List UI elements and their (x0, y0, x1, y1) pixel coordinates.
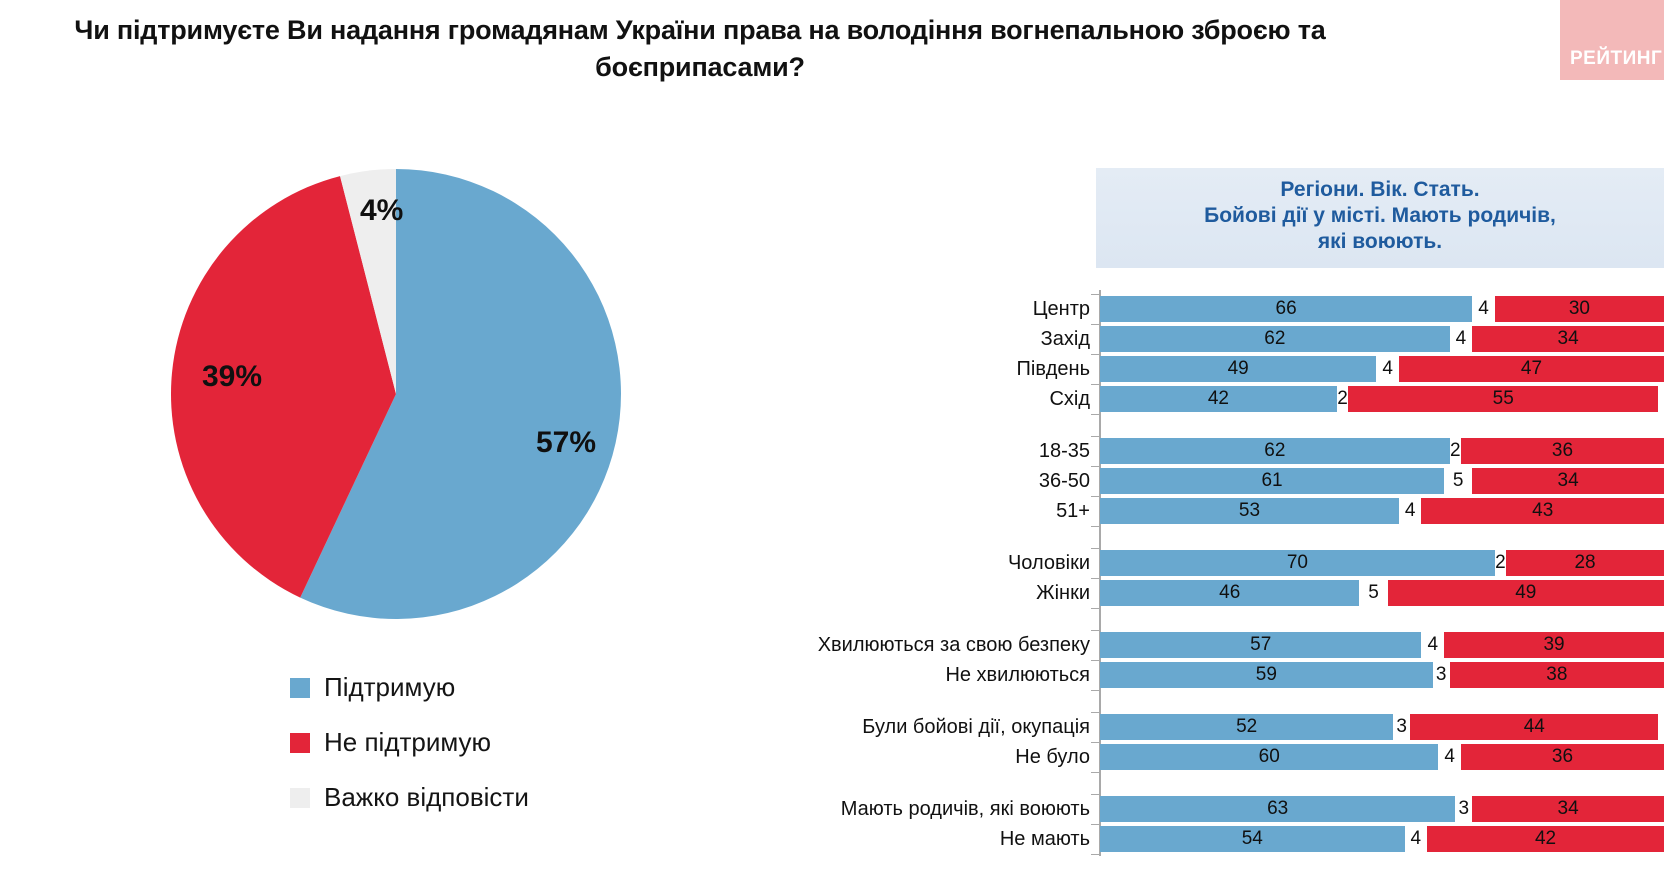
bar-segment-support[interactable]: 62 (1100, 438, 1450, 464)
bar-segment-hard[interactable]: 4 (1399, 498, 1422, 524)
bar-segment-against[interactable]: 55 (1348, 386, 1658, 412)
bar-segment-against[interactable]: 34 (1472, 468, 1664, 494)
bar-value-label: 5 (1453, 470, 1464, 491)
bar-value-label: 4 (1456, 328, 1467, 349)
bar-segment-hard[interactable]: 2 (1450, 438, 1461, 464)
axis-tick (1091, 712, 1100, 713)
poll-infographic: Чи підтримуєте Ви надання громадянам Укр… (0, 0, 1664, 888)
bar-category-label: 18-35 (1039, 438, 1090, 464)
bar-segment-against[interactable]: 36 (1461, 744, 1664, 770)
bar-segment-hard[interactable]: 5 (1444, 468, 1472, 494)
bar-segment-support[interactable]: 49 (1100, 356, 1376, 382)
bar-value-label: 4 (1427, 634, 1438, 655)
bar-segment-against[interactable]: 28 (1506, 550, 1664, 576)
bar-segment-against[interactable]: 38 (1450, 662, 1664, 688)
bar-category-label: Не було (1015, 744, 1090, 770)
bar-category-label: Захід (1041, 326, 1090, 352)
bar-value-label: 49 (1228, 358, 1249, 379)
bar-value-label: 2 (1450, 440, 1461, 461)
bar-value-label: 44 (1524, 716, 1545, 737)
bar-segment-support[interactable]: 57 (1100, 632, 1421, 658)
bar-category-label: Центр (1033, 296, 1090, 322)
bar-value-label: 4 (1478, 298, 1489, 319)
bar-segment-support[interactable]: 54 (1100, 826, 1405, 852)
axis-tick (1091, 354, 1100, 355)
bar-value-label: 2 (1337, 388, 1348, 409)
bar-value-label: 38 (1546, 664, 1567, 685)
bar-category-label: 36-50 (1039, 468, 1090, 494)
bar-value-label: 42 (1535, 828, 1556, 849)
bar-value-label: 4 (1411, 828, 1422, 849)
bar-value-label: 70 (1287, 552, 1308, 573)
bar-segment-hard[interactable]: 3 (1393, 714, 1410, 740)
bar-category-label: 51+ (1056, 498, 1090, 524)
axis-tick (1091, 742, 1100, 743)
bar-value-label: 62 (1264, 440, 1285, 461)
bar-segment-against[interactable]: 49 (1388, 580, 1664, 606)
bar-value-label: 43 (1532, 500, 1553, 521)
bar-segment-support[interactable]: 42 (1100, 386, 1337, 412)
bar-segment-support[interactable]: 63 (1100, 796, 1455, 822)
bar-segment-support[interactable]: 70 (1100, 550, 1495, 576)
bar-value-label: 42 (1208, 388, 1229, 409)
bar-value-label: 54 (1242, 828, 1263, 849)
bar-category-label: Хвилюються за свою безпеку (818, 632, 1090, 658)
bar-value-label: 66 (1276, 298, 1297, 319)
bar-category-label: Не хвилюються (945, 662, 1090, 688)
bar-value-label: 28 (1574, 552, 1595, 573)
bar-segment-support[interactable]: 62 (1100, 326, 1450, 352)
bar-value-label: 52 (1236, 716, 1257, 737)
bar-segment-hard[interactable]: 4 (1376, 356, 1399, 382)
bar-value-label: 55 (1493, 388, 1514, 409)
bar-category-label: Жінки (1036, 580, 1090, 606)
bar-segment-support[interactable]: 53 (1100, 498, 1399, 524)
bar-value-label: 57 (1250, 634, 1271, 655)
bar-segment-hard[interactable]: 2 (1495, 550, 1506, 576)
bar-segment-support[interactable]: 60 (1100, 744, 1438, 770)
bar-value-label: 46 (1219, 582, 1240, 603)
bar-category-label: Чоловіки (1008, 550, 1090, 576)
bar-category-label: Були бойові дії, окупація (862, 714, 1090, 740)
bar-value-label: 60 (1259, 746, 1280, 767)
bar-segment-against[interactable]: 44 (1410, 714, 1658, 740)
bar-segment-support[interactable]: 59 (1100, 662, 1433, 688)
bar-segment-against[interactable]: 39 (1444, 632, 1664, 658)
bar-segment-hard[interactable]: 4 (1405, 826, 1428, 852)
bar-segment-hard[interactable]: 3 (1433, 662, 1450, 688)
bar-value-label: 36 (1552, 746, 1573, 767)
axis-tick (1091, 324, 1100, 325)
bar-value-label: 30 (1569, 298, 1590, 319)
axis-tick (1091, 772, 1100, 773)
bar-value-label: 34 (1558, 470, 1579, 491)
axis-tick (1091, 660, 1100, 661)
axis-tick (1091, 436, 1100, 437)
bar-category-label: Схід (1049, 386, 1090, 412)
bar-category-label: Південь (1017, 356, 1090, 382)
bar-value-label: 3 (1458, 798, 1469, 819)
bar-value-label: 47 (1521, 358, 1542, 379)
axis-tick (1091, 466, 1100, 467)
bar-value-label: 2 (1495, 552, 1506, 573)
bar-segment-support[interactable]: 46 (1100, 580, 1359, 606)
axis-tick (1091, 496, 1100, 497)
bar-segment-against[interactable]: 34 (1472, 796, 1664, 822)
axis-tick (1091, 384, 1100, 385)
bar-value-label: 34 (1558, 798, 1579, 819)
bar-value-label: 4 (1444, 746, 1455, 767)
bar-value-label: 5 (1368, 582, 1379, 603)
bar-segment-against[interactable]: 42 (1427, 826, 1664, 852)
bar-value-label: 49 (1515, 582, 1536, 603)
bar-segment-hard[interactable]: 4 (1421, 632, 1444, 658)
bar-segment-support[interactable]: 52 (1100, 714, 1393, 740)
axis-tick (1091, 854, 1100, 855)
bar-segment-hard[interactable]: 5 (1359, 580, 1387, 606)
axis-tick (1091, 526, 1100, 527)
bar-segment-against[interactable]: 30 (1495, 296, 1664, 322)
bar-value-label: 62 (1264, 328, 1285, 349)
bar-value-label: 36 (1552, 440, 1573, 461)
bar-segment-hard[interactable]: 4 (1450, 326, 1473, 352)
bar-segment-against[interactable]: 36 (1461, 438, 1664, 464)
bar-segment-hard[interactable]: 4 (1472, 296, 1495, 322)
bar-value-label: 4 (1382, 358, 1393, 379)
bar-value-label: 34 (1558, 328, 1579, 349)
bar-segment-hard[interactable]: 3 (1455, 796, 1472, 822)
axis-tick (1091, 414, 1100, 415)
bar-value-label: 53 (1239, 500, 1260, 521)
bar-segment-support[interactable]: 61 (1100, 468, 1444, 494)
bar-value-label: 3 (1396, 716, 1407, 737)
bar-value-label: 4 (1405, 500, 1416, 521)
bar-segment-against[interactable]: 47 (1399, 356, 1664, 382)
bar-value-label: 63 (1267, 798, 1288, 819)
bar-segment-support[interactable]: 66 (1100, 296, 1472, 322)
bar-segment-hard[interactable]: 4 (1438, 744, 1461, 770)
bar-category-label: Не мають (1000, 826, 1090, 852)
bar-segment-hard[interactable]: 2 (1337, 386, 1348, 412)
bar-value-label: 59 (1256, 664, 1277, 685)
bar-category-label: Мають родичів, які воюють (841, 796, 1090, 822)
axis-tick (1091, 578, 1100, 579)
axis-tick (1091, 690, 1100, 691)
axis-tick (1091, 548, 1100, 549)
axis-tick (1091, 294, 1100, 295)
axis-tick (1091, 630, 1100, 631)
bar-segment-against[interactable]: 34 (1472, 326, 1664, 352)
axis-tick (1091, 608, 1100, 609)
bar-value-label: 3 (1436, 664, 1447, 685)
bar-value-label: 61 (1261, 470, 1282, 491)
axis-tick (1091, 794, 1100, 795)
bar-segment-against[interactable]: 43 (1421, 498, 1664, 524)
bar-value-label: 39 (1543, 634, 1564, 655)
axis-tick (1091, 824, 1100, 825)
breakdown-bar-chart: Центр66430Захід62434Південь49447Схід4225… (0, 0, 1664, 888)
